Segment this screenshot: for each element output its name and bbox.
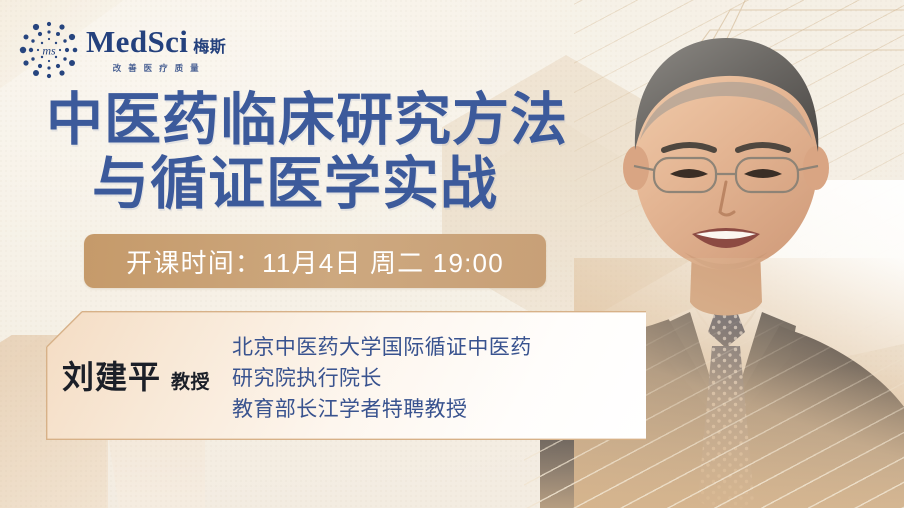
medsci-logo[interactable]: ms MedSci 梅斯 改善医疗质量 — [18, 14, 248, 86]
page-title-line-1: 中医药临床研究方法 — [46, 88, 568, 152]
logo-wordmark-cn: 梅斯 — [193, 40, 226, 56]
course-promo-poster: ms MedSci 梅斯 改善医疗质量 中医药临床研究方法 与循证医学实战 开课… — [0, 0, 904, 508]
speaker-credential-line-3: 教育部长江学者特聘教授 — [232, 394, 532, 425]
speaker-name: 刘建平 — [62, 352, 161, 398]
speaker-name-block: 刘建平 教授 — [62, 352, 210, 398]
speaker-credential-line-2: 研究院执行院长 — [232, 363, 532, 394]
speaker-credentials: 北京中医药大学国际循证中医药 研究院执行院长 教育部长江学者特聘教授 — [232, 332, 532, 425]
course-time-banner: 开课时间：11月4日 周二 19:00 — [84, 234, 546, 288]
logo-wordmark: MedSci — [86, 26, 188, 57]
speaker-credential-line-1: 北京中医药大学国际循证中医药 — [232, 332, 532, 363]
logo-tagline: 改善医疗质量 — [113, 62, 206, 74]
course-time-text: 开课时间：11月4日 周二 19:00 — [126, 243, 504, 280]
medsci-dot-circle-logo-icon: ms — [18, 19, 80, 81]
page-title: 中医药临床研究方法 与循证医学实战 — [46, 88, 568, 216]
svg-text:ms: ms — [42, 44, 56, 58]
speaker-title: 教授 — [171, 367, 210, 394]
page-title-line-2: 与循证医学实战 — [46, 152, 568, 216]
